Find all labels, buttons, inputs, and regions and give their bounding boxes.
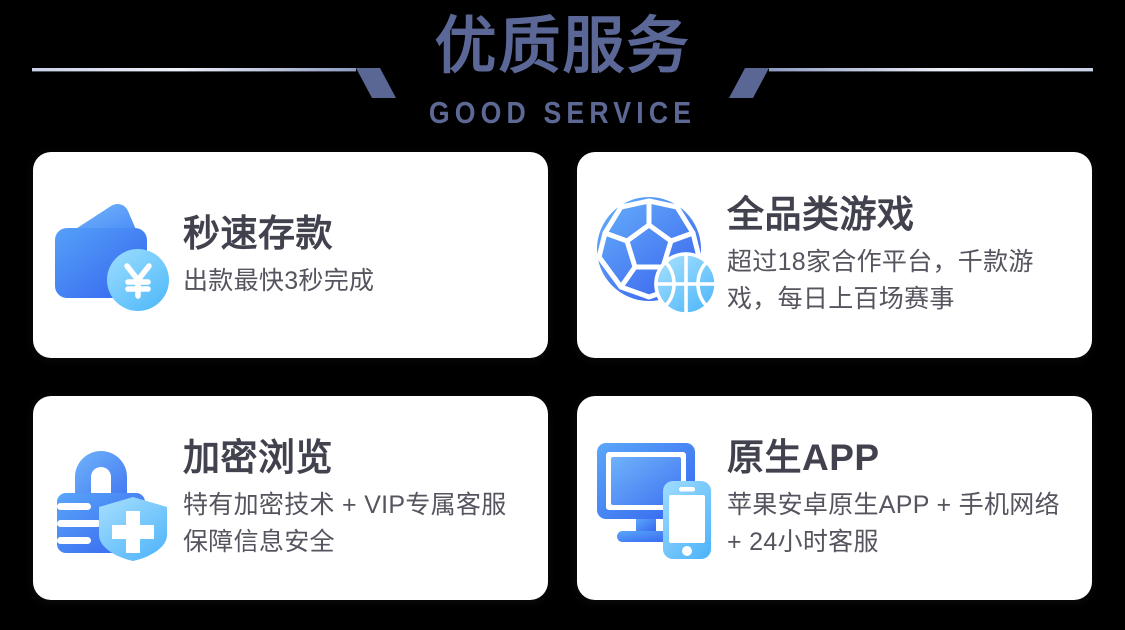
service-card-games[interactable]: 全品类游戏 超过18家合作平台，千款游戏，每日上百场赛事 (577, 152, 1092, 358)
page-header: 优质服务 GOOD SERVICE (0, 0, 1125, 146)
soccer-basketball-icon (593, 193, 719, 317)
monitor-phone-icon (593, 437, 719, 559)
card-text-wrapper: 加密浏览 特有加密技术 + VIP专属客服保障信息安全 (183, 435, 548, 561)
card-text-wrapper: 原生APP 苹果安卓原生APP + 手机网络 + 24小时客服 (727, 435, 1092, 561)
card-subtitle: 超过18家合作平台，千款游戏，每日上百场赛事 (727, 244, 1072, 318)
card-subtitle: 苹果安卓原生APP + 手机网络 + 24小时客服 (727, 487, 1072, 561)
card-subtitle: 出款最快3秒完成 (183, 263, 523, 300)
card-title: 秒速存款 (183, 211, 530, 257)
card-text-wrapper: 全品类游戏 超过18家合作平台，千款游戏，每日上百场赛事 (727, 192, 1092, 318)
card-text-wrapper: 秒速存款 出款最快3秒完成 (183, 211, 548, 300)
card-subtitle: 特有加密技术 + VIP专属客服保障信息安全 (183, 487, 528, 561)
card-title: 全品类游戏 (727, 192, 1074, 238)
lock-shield-icon (51, 435, 173, 561)
service-card-encryption[interactable]: 加密浏览 特有加密技术 + VIP专属客服保障信息安全 (33, 396, 548, 600)
card-icon-wrapper (33, 396, 183, 600)
service-card-native-app[interactable]: 原生APP 苹果安卓原生APP + 手机网络 + 24小时客服 (577, 396, 1092, 600)
service-card-deposit[interactable]: 秒速存款 出款最快3秒完成 (33, 152, 548, 358)
card-title: 加密浏览 (183, 435, 530, 481)
card-icon-wrapper (33, 152, 183, 358)
card-icon-wrapper (577, 152, 727, 358)
wallet-yen-icon (49, 194, 175, 316)
card-title: 原生APP (727, 435, 1074, 481)
card-icon-wrapper (577, 396, 727, 600)
page-title-cn: 优质服务 (0, 4, 1125, 90)
page-title-en: GOOD SERVICE (79, 94, 1047, 132)
service-card-grid: 秒速存款 出款最快3秒完成 (33, 152, 1092, 600)
